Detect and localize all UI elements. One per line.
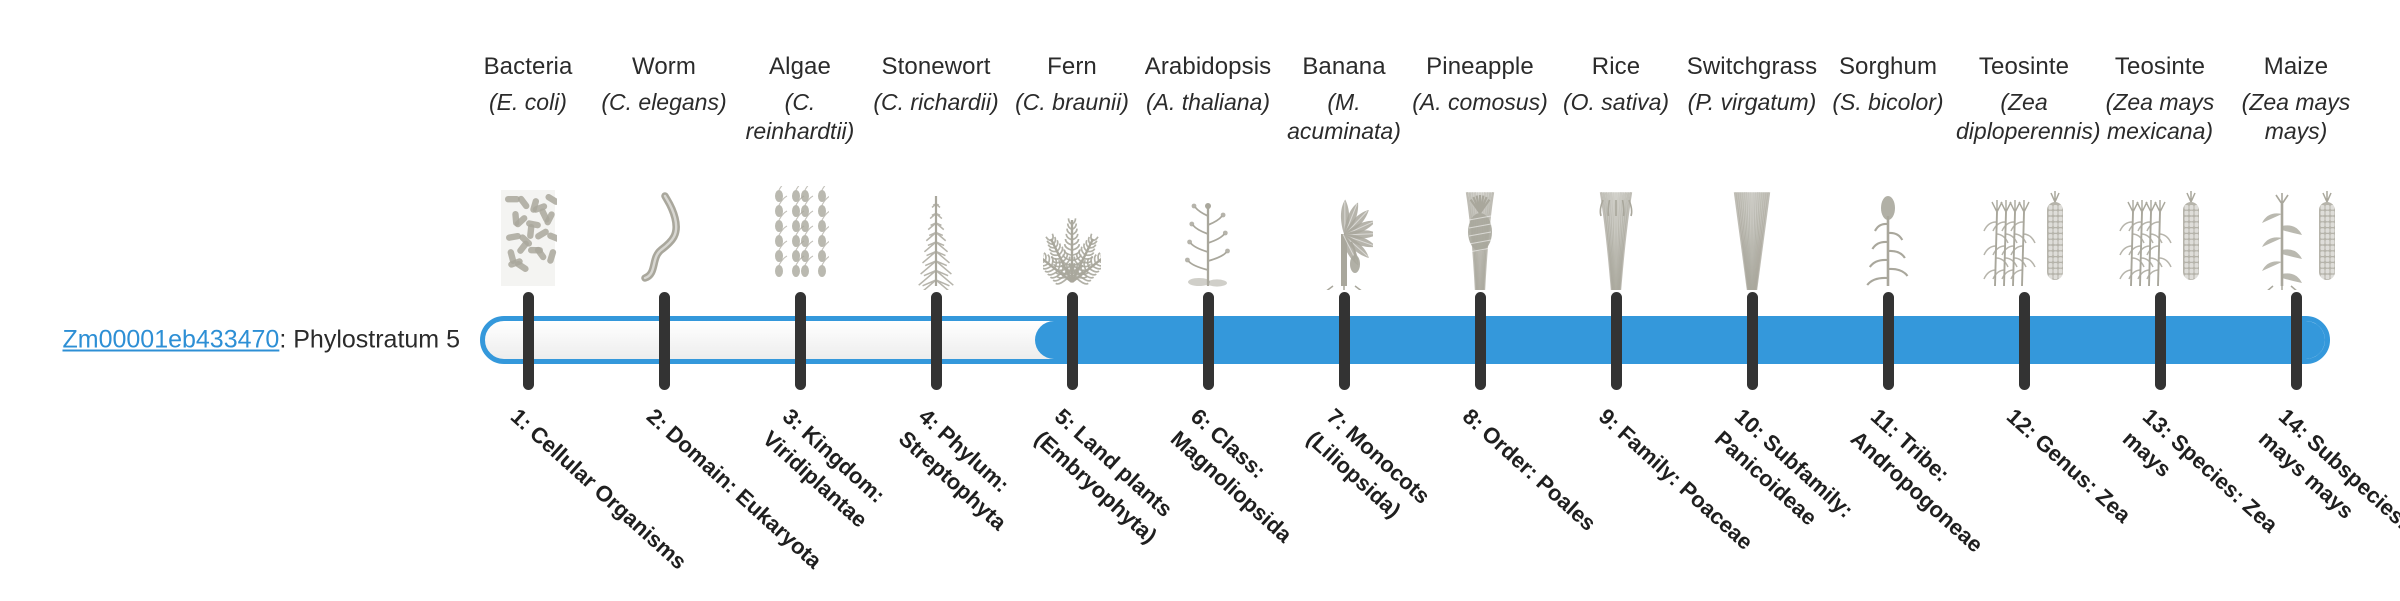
rank-label-3: 3: Kingdom: Viridiplantae xyxy=(756,402,967,600)
species-common-name: Worm xyxy=(596,52,732,82)
species-column-3: Algae(C. reinhardtii) xyxy=(732,52,868,146)
tick-mark-7[interactable] xyxy=(1339,292,1350,390)
species-column-1: Bacteria(E. coli) xyxy=(460,52,596,117)
species-scientific-name: (C. reinhardtii) xyxy=(732,88,868,146)
rank-label-6: 6: Class: Magnoliopsida xyxy=(1164,402,1375,600)
species-common-name: Arabidopsis xyxy=(1140,52,1276,82)
species-column-12: Teosinte(Zea diploperennis) xyxy=(1956,52,2092,146)
phylostratum-diagram: Zm00001eb433470: Phylostratum 5 Bacteria… xyxy=(0,0,2400,580)
sorghum-icon xyxy=(1813,168,1963,290)
species-scientific-name: (E. coli) xyxy=(460,88,596,117)
tick-mark-8[interactable] xyxy=(1475,292,1486,390)
gene-accession-link[interactable]: Zm00001eb433470 xyxy=(62,326,279,354)
species-scientific-name: (A. thaliana) xyxy=(1140,88,1276,117)
teosinte-icon xyxy=(1949,168,2099,290)
rice-icon xyxy=(1541,168,1691,290)
tick-mark-4[interactable] xyxy=(931,292,942,390)
teosinte-icon xyxy=(2085,168,2235,290)
species-common-name: Switchgrass xyxy=(1684,52,1820,82)
gene-phylostratum-label: Zm00001eb433470: Phylostratum 5 xyxy=(40,326,460,355)
phylostratum-bar-track[interactable] xyxy=(480,316,2330,364)
species-scientific-name: (O. sativa) xyxy=(1548,88,1684,117)
species-scientific-name: (P. virgatum) xyxy=(1684,88,1820,117)
species-column-14: Maize(Zea mays mays) xyxy=(2228,52,2364,146)
tick-mark-9[interactable] xyxy=(1611,292,1622,390)
rank-label-4: 4: Phylum: Streptophyta xyxy=(892,402,1103,600)
species-scientific-name: (Zea mays mays) xyxy=(2228,88,2364,146)
tick-mark-11[interactable] xyxy=(1883,292,1894,390)
rank-label-5: 5: Land plants (Embryophyta) xyxy=(1028,402,1239,600)
tick-mark-1[interactable] xyxy=(523,292,534,390)
tick-mark-3[interactable] xyxy=(795,292,806,390)
rank-label-8: 8: Order: Poales xyxy=(1456,402,1647,578)
species-common-name: Pineapple xyxy=(1412,52,1548,82)
species-common-name: Stonewort xyxy=(868,52,1004,82)
algae-icon xyxy=(725,168,875,290)
species-column-11: Sorghum(S. bicolor) xyxy=(1820,52,1956,117)
tick-mark-13[interactable] xyxy=(2155,292,2166,390)
species-scientific-name: (C. braunii) xyxy=(1004,88,1140,117)
arabidopsis-icon xyxy=(1133,168,1283,290)
species-column-9: Rice(O. sativa) xyxy=(1548,52,1684,117)
species-common-name: Teosinte xyxy=(1956,52,2092,82)
rank-label-9: 9: Family: Poaceae xyxy=(1592,402,1783,578)
species-column-10: Switchgrass(P. virgatum) xyxy=(1684,52,1820,117)
phylostratum-bar-fill xyxy=(1035,321,2325,359)
rank-label-14: 14: Subspecies: Zea mays mays xyxy=(2252,402,2400,600)
species-column-2: Worm(C. elegans) xyxy=(596,52,732,117)
tick-mark-6[interactable] xyxy=(1203,292,1214,390)
tick-mark-12[interactable] xyxy=(2019,292,2030,390)
species-common-name: Banana xyxy=(1276,52,1412,82)
species-column-8: Pineapple(A. comosus) xyxy=(1412,52,1548,117)
species-common-name: Algae xyxy=(732,52,868,82)
species-scientific-name: (S. bicolor) xyxy=(1820,88,1956,117)
species-scientific-name: (Zea mays mexicana) xyxy=(2092,88,2228,146)
phylostratum-value: Phylostratum 5 xyxy=(293,326,460,354)
species-scientific-name: (C. elegans) xyxy=(596,88,732,117)
bacteria-icon xyxy=(453,168,603,290)
rank-label-1: 1: Cellular Organisms xyxy=(504,402,695,578)
banana-icon xyxy=(1269,168,1419,290)
maize-icon xyxy=(2221,168,2371,290)
switchgrass-icon xyxy=(1677,168,1827,290)
species-common-name: Bacteria xyxy=(460,52,596,82)
species-common-name: Maize xyxy=(2228,52,2364,82)
species-column-4: Stonewort(C. richardii) xyxy=(868,52,1004,117)
tick-mark-14[interactable] xyxy=(2291,292,2302,390)
rank-label-11: 11: Tribe: Andropogoneae xyxy=(1844,402,2055,600)
pineapple-icon xyxy=(1405,168,1555,290)
species-scientific-name: (M. acuminata) xyxy=(1276,88,1412,146)
fern-icon xyxy=(997,168,1147,290)
species-scientific-name: (C. richardii) xyxy=(868,88,1004,117)
tick-mark-10[interactable] xyxy=(1747,292,1758,390)
stonewort-icon xyxy=(861,168,1011,290)
gene-label-separator: : xyxy=(279,326,293,354)
species-scientific-name: (Zea diploperennis) xyxy=(1956,88,2092,146)
rank-label-2: 2: Domain: Eukaryota xyxy=(640,402,831,578)
rank-label-13: 13: Species: Zea mays xyxy=(2116,402,2327,600)
species-column-7: Banana(M. acuminata) xyxy=(1276,52,1412,146)
species-common-name: Rice xyxy=(1548,52,1684,82)
worm-icon xyxy=(589,168,739,290)
species-scientific-name: (A. comosus) xyxy=(1412,88,1548,117)
species-common-name: Sorghum xyxy=(1820,52,1956,82)
species-column-5: Fern(C. braunii) xyxy=(1004,52,1140,117)
species-column-6: Arabidopsis(A. thaliana) xyxy=(1140,52,1276,117)
species-common-name: Fern xyxy=(1004,52,1140,82)
species-column-13: Teosinte(Zea mays mexicana) xyxy=(2092,52,2228,146)
rank-label-10: 10: Subfamily: Panicoideae xyxy=(1708,402,1919,600)
species-common-name: Teosinte xyxy=(2092,52,2228,82)
rank-label-7: 7: Monocots (Liliopsida) xyxy=(1300,402,1511,600)
rank-label-12: 12: Genus: Zea xyxy=(2000,402,2191,578)
tick-mark-2[interactable] xyxy=(659,292,670,390)
tick-mark-5[interactable] xyxy=(1067,292,1078,390)
